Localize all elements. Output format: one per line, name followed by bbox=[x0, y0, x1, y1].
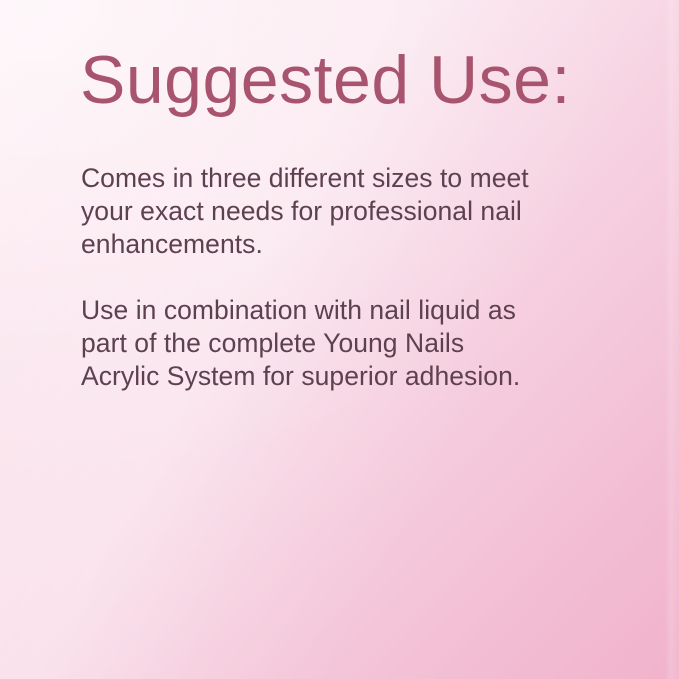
background-right-seam bbox=[665, 0, 679, 679]
paragraph-line: enhancements. bbox=[81, 228, 581, 261]
body-copy: Comes in three different sizes to meet y… bbox=[81, 162, 581, 393]
paragraph-line: Acrylic System for superior adhesion. bbox=[81, 360, 581, 393]
content-column: Suggested Use: Comes in three different … bbox=[80, 0, 600, 679]
paragraph-line: Use in combination with nail liquid as bbox=[81, 294, 581, 327]
suggested-use-panel: Suggested Use: Comes in three different … bbox=[0, 0, 679, 679]
paragraph-system: Use in combination with nail liquid as p… bbox=[81, 294, 581, 393]
paragraph-line: part of the complete Young Nails bbox=[81, 327, 581, 360]
paragraph-line: Comes in three different sizes to meet bbox=[81, 162, 581, 195]
page-title: Suggested Use: bbox=[80, 46, 571, 114]
paragraph-line: your exact needs for professional nail bbox=[81, 195, 581, 228]
paragraph-sizes: Comes in three different sizes to meet y… bbox=[81, 162, 581, 261]
